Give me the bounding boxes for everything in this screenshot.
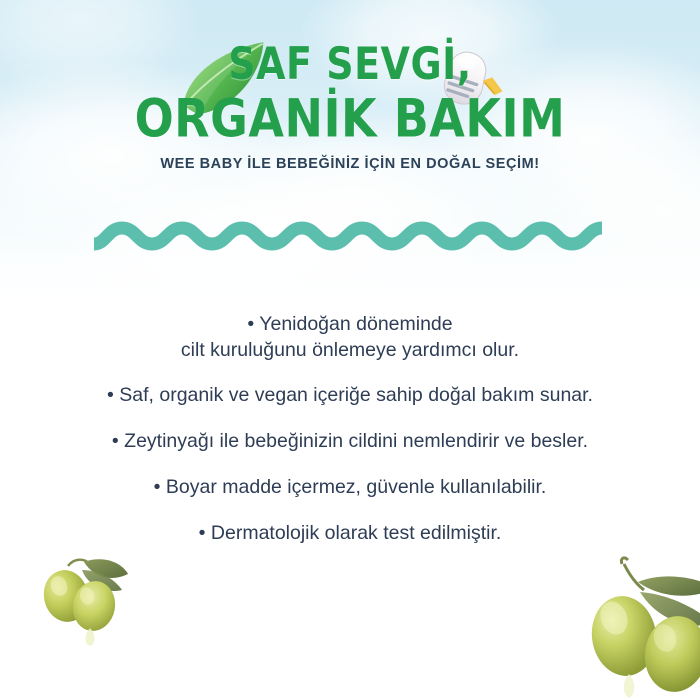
benefit-line: cilt kuruluğunu önlemeye yardımcı olur. (0, 338, 700, 364)
list-item: • Saf, organik ve vegan içeriğe sahip do… (0, 383, 700, 409)
benefit-line: • Zeytinyağı ile bebeğinizin cildini nem… (0, 429, 700, 455)
list-item: • Dermatolojik olarak test edilmiştir. (0, 521, 700, 547)
benefit-line: • Saf, organik ve vegan içeriğe sahip do… (0, 383, 700, 409)
list-item: • Zeytinyağı ile bebeğinizin cildini nem… (0, 429, 700, 455)
benefit-line: • Yenidoğan döneminde (0, 312, 700, 338)
title-line-1: SAF SEVGİ, (0, 44, 700, 86)
header: SAF SEVGİ, ORGANİK BAKIM WEE BABY İLE BE… (0, 0, 700, 200)
page-title: SAF SEVGİ, ORGANİK BAKIM (0, 50, 700, 137)
benefit-line: • Dermatolojik olarak test edilmiştir. (0, 521, 700, 547)
title-line-2: ORGANİK BAKIM (0, 94, 700, 143)
benefit-line: • Boyar madde içermez, güvenle kullanıla… (0, 475, 700, 501)
wavy-divider (92, 214, 608, 262)
list-item: • Boyar madde içermez, güvenle kullanıla… (0, 475, 700, 501)
olive-cluster-icon (24, 548, 142, 668)
list-item: • Yenidoğan döneminde cilt kuruluğunu ön… (0, 312, 700, 363)
promo-banner: SAF SEVGİ, ORGANİK BAKIM WEE BABY İLE BE… (0, 0, 700, 700)
benefits-list: • Yenidoğan döneminde cilt kuruluğunu ön… (0, 312, 700, 546)
olive-cluster-icon (566, 546, 700, 700)
subtitle: WEE BABY İLE BEBEĞİNİZ İÇİN EN DOĞAL SEÇ… (0, 156, 700, 172)
